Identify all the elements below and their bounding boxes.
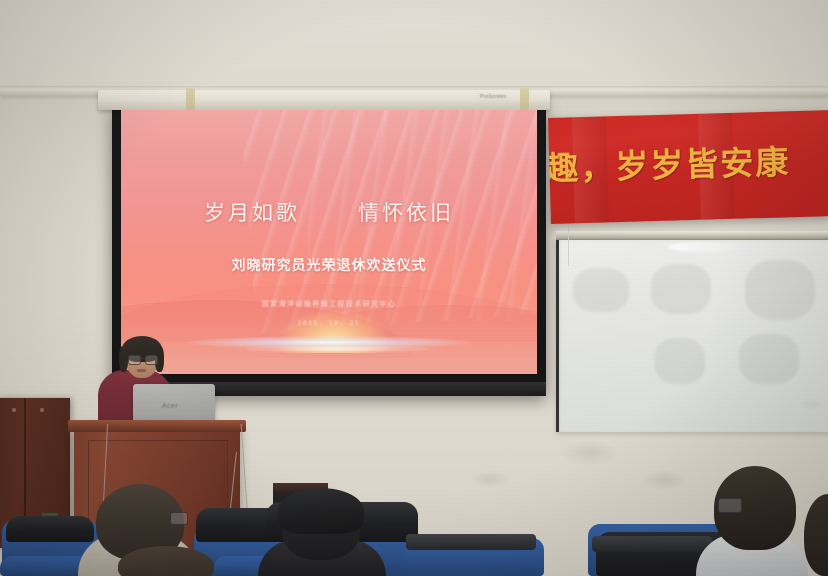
presenter-glasses-lens	[128, 355, 141, 365]
slide-date: 2025. 10. 21	[121, 320, 537, 327]
whiteboard-smudge	[573, 268, 629, 312]
cabinet-knob[interactable]	[12, 408, 16, 412]
chair-armrest[interactable]	[592, 536, 712, 552]
photo-scene: ProScreen 岁月如歌 情怀依旧 刘晓研究员光荣退休欢送仪式 国家海洋设施…	[0, 0, 828, 576]
attendee-glasses	[170, 512, 188, 525]
attendee-cap	[278, 488, 364, 534]
projector-screen-housing: ProScreen	[98, 90, 550, 110]
whiteboard-top-rail	[556, 231, 828, 240]
red-congratulation-banner: 趣，岁岁皆安康	[548, 110, 828, 224]
presenter-mouth	[137, 369, 146, 372]
whiteboard-smudge	[803, 400, 821, 408]
laptop-logo: Acer	[162, 403, 178, 410]
banner-text: 趣，岁岁皆安康	[548, 134, 828, 190]
slide-background	[121, 110, 537, 374]
screen-brand-label: ProScreen	[480, 94, 506, 100]
chair-headrest	[6, 516, 94, 542]
slide-title: 岁月如歌 情怀依旧	[121, 197, 537, 227]
slide-organization: 国家海洋设施养殖工程技术研究中心	[121, 299, 537, 309]
chair-armrest[interactable]	[406, 534, 536, 550]
whiteboard-smudge	[739, 334, 799, 384]
presenter-glasses-lens	[145, 355, 158, 365]
whiteboard-smudge	[745, 260, 815, 320]
banner-hanging-string	[568, 220, 569, 266]
whiteboard-glare	[668, 242, 744, 252]
podium-top-surface	[68, 420, 246, 432]
cabinet-knob[interactable]	[40, 408, 44, 412]
slide-subtitle: 刘晓研究员光荣退休欢送仪式	[121, 255, 537, 275]
presentation-slide: 岁月如歌 情怀依旧 刘晓研究员光荣退休欢送仪式 国家海洋设施养殖工程技术研究中心…	[121, 110, 537, 374]
attendee-glasses	[718, 498, 742, 513]
whiteboard-smudge	[651, 264, 711, 314]
whiteboard	[556, 238, 828, 432]
presenter-glasses-bridge	[139, 358, 145, 359]
whiteboard-smudge	[655, 338, 705, 384]
